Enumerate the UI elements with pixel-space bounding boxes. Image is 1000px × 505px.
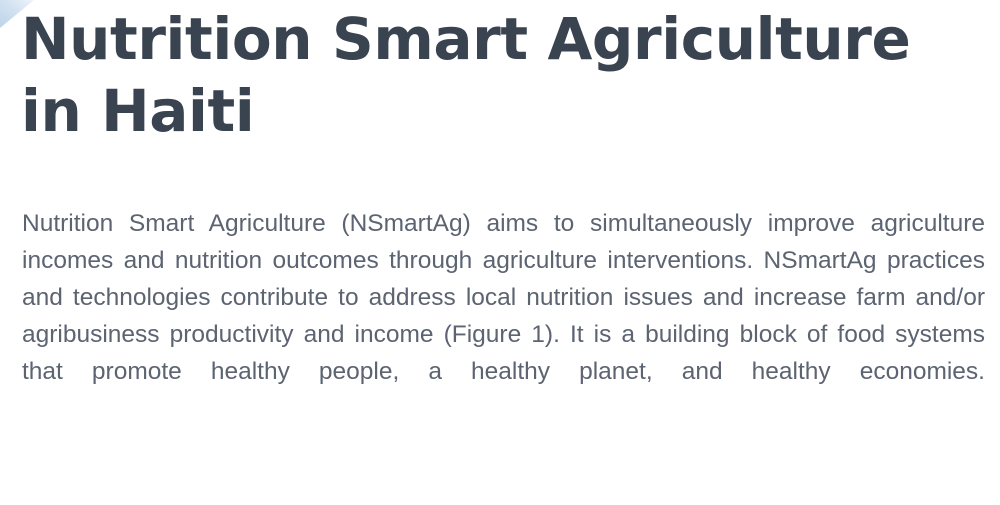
page-title: Nutrition Smart Agriculture in Haiti: [21, 3, 981, 147]
intro-paragraph: Nutrition Smart Agriculture (NSmartAg) a…: [22, 205, 985, 427]
document-page: Nutrition Smart Agriculture in Haiti Nut…: [0, 0, 1000, 505]
